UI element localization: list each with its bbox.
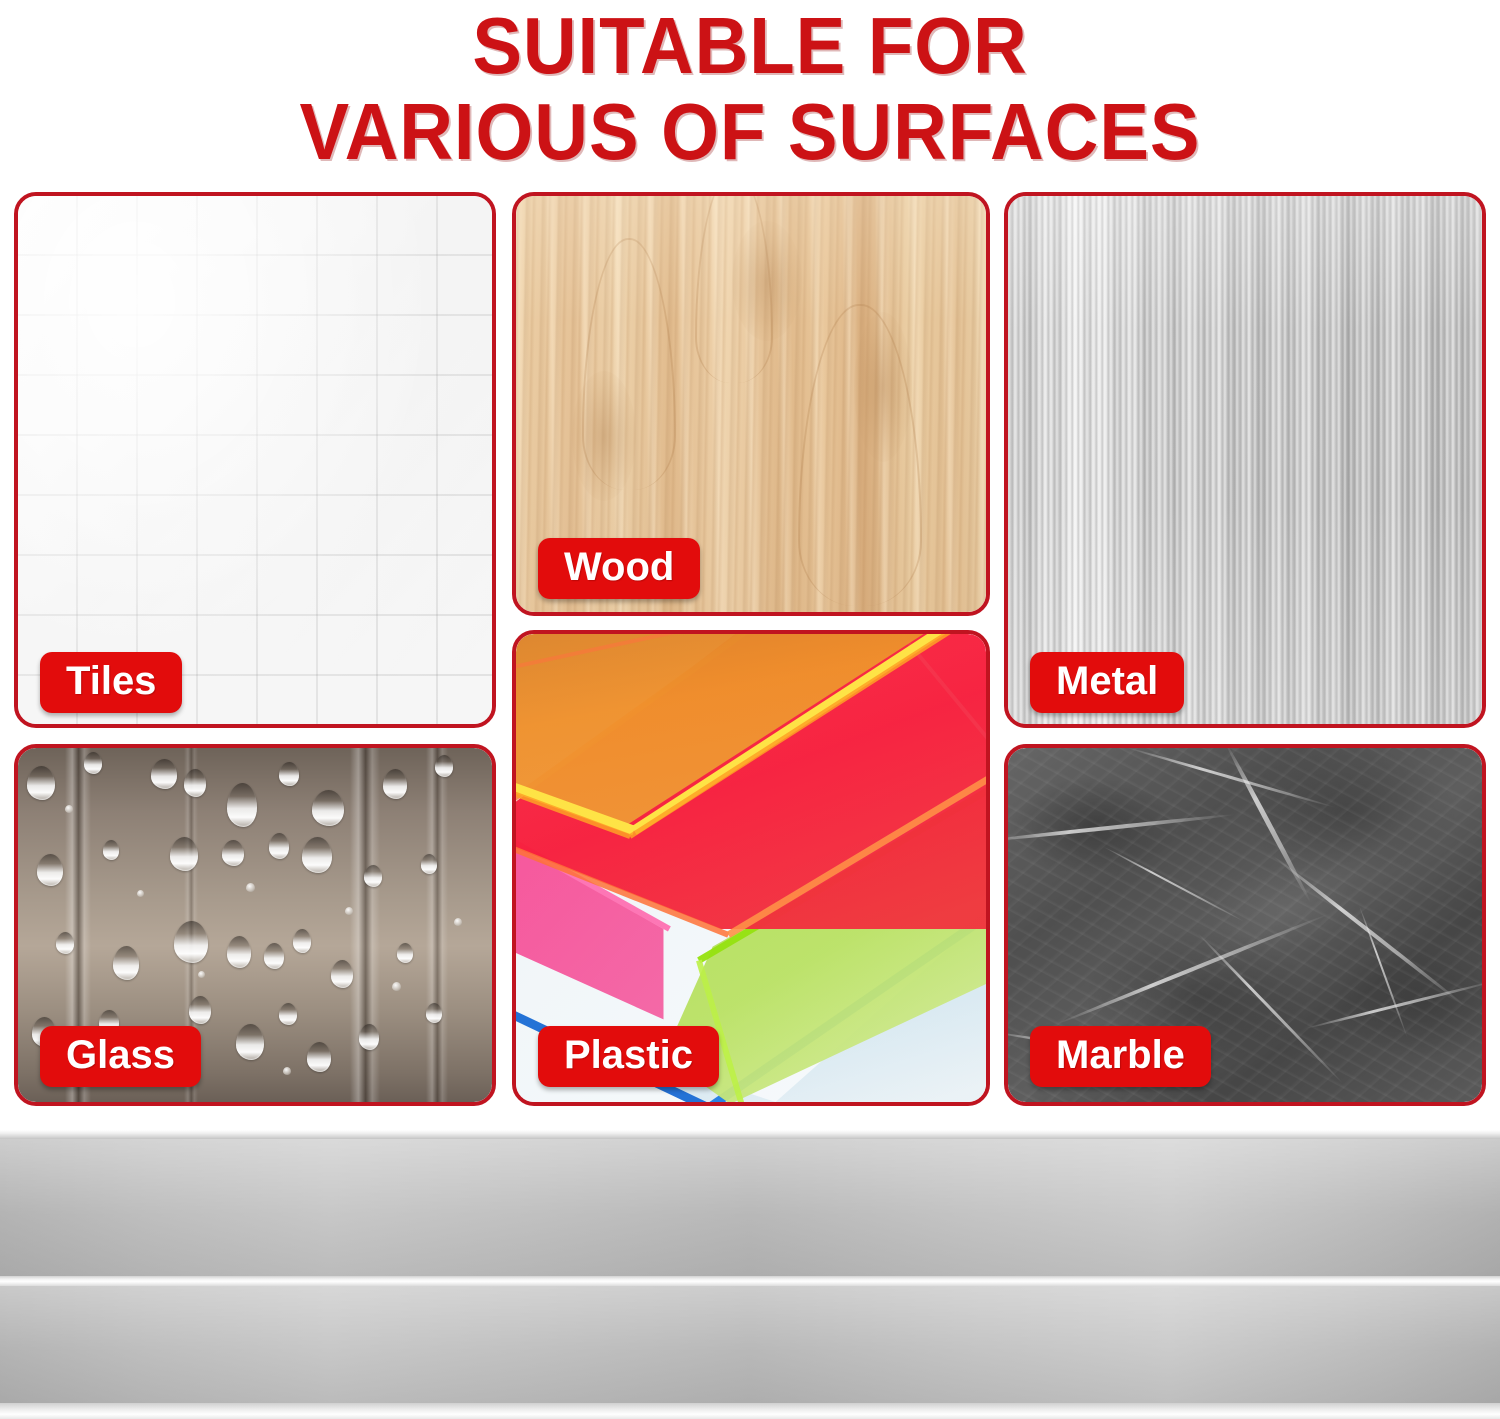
water-droplet-small — [454, 918, 462, 926]
wood-grain-arc — [582, 238, 676, 490]
water-droplet — [383, 769, 407, 799]
marble-vein — [1358, 904, 1409, 1038]
water-droplet-small — [345, 907, 353, 915]
wood-grain-arc — [798, 304, 922, 606]
water-droplet — [269, 833, 289, 859]
metal-sheen-lower — [0, 1286, 1500, 1403]
water-droplet — [279, 1003, 297, 1025]
water-droplet-small — [392, 982, 401, 991]
water-droplet — [222, 840, 244, 866]
water-droplet-small — [137, 890, 144, 897]
marble-vein — [1126, 748, 1336, 809]
marble-vein — [1197, 933, 1344, 1085]
water-droplet — [264, 943, 284, 969]
metal-rib-top — [0, 1130, 1500, 1139]
water-droplet-small — [246, 883, 255, 892]
title-line-1: SUITABLE FOR — [53, 8, 1448, 84]
metal-texture — [1008, 196, 1482, 724]
marble-vein — [1224, 748, 1313, 904]
water-droplet — [189, 996, 211, 1024]
water-droplet-small — [198, 971, 205, 978]
surface-label-wood: Wood — [538, 538, 700, 599]
metal-sheen-upper — [0, 1139, 1500, 1276]
water-droplet-small — [65, 805, 73, 813]
water-droplet — [435, 755, 453, 777]
water-droplet — [293, 929, 311, 953]
water-droplet — [307, 1042, 331, 1072]
marble-vein — [1304, 979, 1482, 1030]
water-droplet — [236, 1024, 264, 1060]
surface-label-glass: Glass — [40, 1026, 201, 1087]
water-droplet — [27, 766, 55, 800]
water-droplet — [174, 921, 208, 963]
water-droplet — [151, 759, 177, 789]
surface-label-plastic: Plastic — [538, 1026, 719, 1087]
water-droplet — [279, 762, 299, 786]
bottom-metal-surface — [0, 1130, 1500, 1419]
wood-grain-arc — [695, 196, 773, 383]
water-droplet — [103, 840, 119, 860]
metal-rib-middle — [0, 1276, 1500, 1286]
water-droplet — [84, 752, 102, 774]
wood-grain-mark — [732, 221, 802, 341]
surface-label-marble: Marble — [1030, 1026, 1211, 1087]
surface-card-metal — [1004, 192, 1486, 728]
marble-vein — [1056, 913, 1330, 1027]
marble-vein — [1272, 855, 1469, 1010]
surface-label-metal: Metal — [1030, 652, 1184, 713]
water-droplet — [227, 936, 251, 968]
marble-vein — [1102, 845, 1245, 922]
surface-label-tiles: Tiles — [40, 652, 182, 713]
water-droplet — [37, 854, 63, 886]
water-droplet — [426, 1003, 442, 1023]
water-droplet — [331, 960, 353, 988]
water-droplet — [421, 854, 437, 874]
water-droplet — [170, 837, 198, 871]
wood-grain-mark — [854, 312, 912, 462]
water-droplet — [56, 932, 74, 954]
page-title: SUITABLE FOR VARIOUS OF SURFACES — [0, 0, 1500, 182]
tiles-texture — [18, 196, 492, 724]
glass-streak — [350, 748, 380, 1102]
water-droplet — [312, 790, 344, 826]
water-droplet — [227, 783, 257, 827]
glass-streak — [426, 748, 448, 1102]
water-droplet — [302, 837, 332, 873]
marble-vein — [1008, 813, 1235, 844]
water-droplet — [359, 1024, 379, 1050]
water-droplet — [184, 769, 206, 797]
title-line-2: VARIOUS OF SURFACES — [53, 94, 1448, 170]
water-droplet — [113, 946, 139, 980]
water-droplet-small — [283, 1067, 291, 1075]
water-droplet — [364, 865, 382, 887]
surface-card-tiles — [14, 192, 496, 728]
wood-grain-mark — [572, 371, 636, 501]
water-droplet — [397, 943, 413, 963]
metal-rib-bottom — [0, 1403, 1500, 1419]
